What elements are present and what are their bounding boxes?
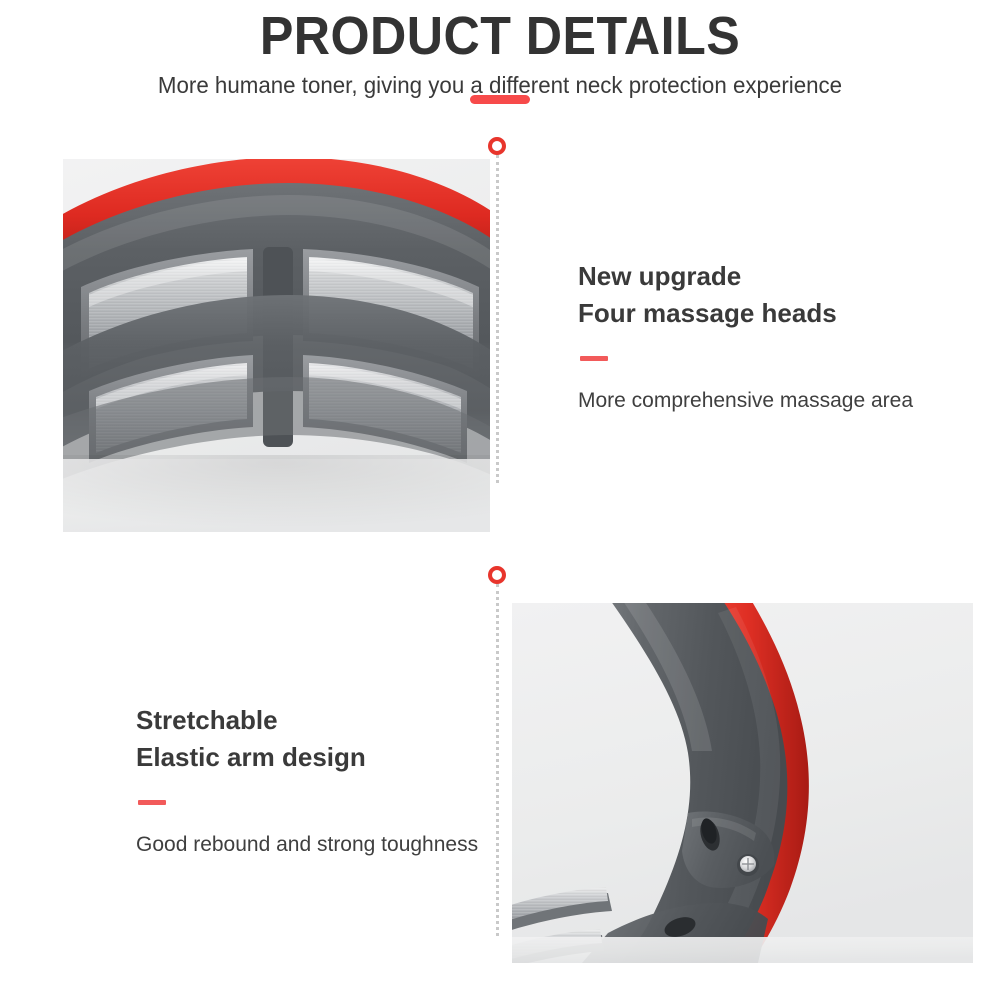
product-photo-elastic-arm [512,603,973,963]
connector-dotted-line-bottom [496,584,499,936]
page-title: PRODUCT DETAILS [35,8,965,64]
subtext: Good rebound and strong toughness [136,831,478,858]
headline-accent-dash [580,356,608,361]
ring-marker-icon-bottom [488,566,506,584]
product-details-page: PRODUCT DETAILS More humane toner, givin… [0,0,1000,1000]
ring-marker-icon-top [488,137,506,155]
headline-line-2: Four massage heads [578,295,913,332]
page-header: PRODUCT DETAILS More humane toner, givin… [0,0,1000,99]
headline-line-2: Elastic arm design [136,739,478,776]
subtext: More comprehensive massage area [578,387,913,414]
info-block-massage-heads: New upgrade Four massage heads More comp… [578,258,913,414]
title-underline-rule [470,95,530,104]
product-photo-massage-heads [63,159,490,532]
headline-line-1: New upgrade [578,258,913,295]
info-block-elastic-arm: Stretchable Elastic arm design Good rebo… [136,702,478,858]
headline-accent-dash [138,800,166,805]
connector-dotted-line-top [496,155,499,483]
headline-line-1: Stretchable [136,702,478,739]
